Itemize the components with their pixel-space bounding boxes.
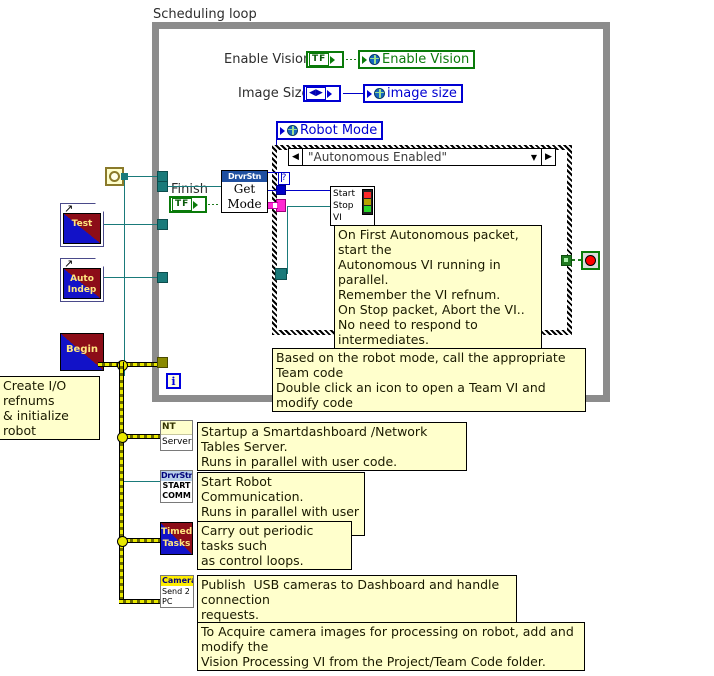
timed-tasks-vi[interactable]: Timed Tasks <box>160 522 193 555</box>
wait-timer-wire-down <box>124 176 125 376</box>
timed-tasks-line2: Tasks <box>163 539 191 549</box>
terminal-nub <box>193 201 198 209</box>
start-stop-mode-wire <box>286 190 330 191</box>
get-mode-out-wire-mid <box>268 190 278 191</box>
terminal-nub <box>327 90 332 98</box>
loop-tunnel-error[interactable] <box>157 357 168 368</box>
vision-comment: To Acquire camera images for processing … <box>197 622 585 671</box>
case-prev-arrow-icon[interactable]: ◀ <box>289 149 303 165</box>
timed-tasks-comment: Carry out periodic tasks such as control… <box>197 521 352 570</box>
image-size-indicator-label: image size <box>387 86 457 101</box>
camera-line1: Camera <box>161 576 193 586</box>
scheduling-loop-label: Scheduling loop <box>153 7 257 22</box>
error-wire-begin-out <box>98 362 166 367</box>
get-mode-header: DrvrStn <box>222 171 267 182</box>
team-vi-test-label: Test <box>63 213 101 244</box>
case-tunnel-error[interactable] <box>275 268 287 280</box>
start-comm-line1: START <box>161 481 192 491</box>
begin-comment: Create I/O refnums & initialize robot <box>0 376 100 440</box>
start-comm-line2: COMM <box>161 491 192 501</box>
terminal-nub <box>330 56 335 64</box>
open-vi-arrow-icon: ↗ <box>64 204 73 213</box>
enable-vision-global-indicator[interactable]: Enable Vision <box>358 50 475 69</box>
get-mode-line1: Get <box>222 182 267 197</box>
team-vi-auto-indep[interactable]: ↗ AutoIndep <box>60 258 104 302</box>
enable-vision-label: Enable Vision <box>224 52 311 67</box>
nt-server-comment: Startup a Smartdashboard /Network Tables… <box>197 422 467 471</box>
traffic-light-icon <box>362 189 373 215</box>
stop-button[interactable] <box>581 251 600 270</box>
wait-timer-circle <box>109 171 120 182</box>
indicator-arrow-icon <box>362 56 367 64</box>
indicator-arrow-icon <box>367 90 372 98</box>
image-size-label: Image Size <box>238 86 310 101</box>
start-stop-text: Start Stop VI <box>332 188 362 224</box>
start-stop-line2: Stop <box>333 200 362 212</box>
get-mode-in-wire <box>162 186 221 187</box>
loop-iteration-terminal[interactable]: i <box>166 373 181 389</box>
enable-vision-terminal[interactable]: TF <box>306 51 344 68</box>
case-selector-bar[interactable]: ◀ "Autonomous Enabled" ▼ ▶ <box>288 148 556 166</box>
tunnel-dot-icon <box>564 258 568 262</box>
camera-send-vi[interactable]: Camera Send 2 PC <box>160 575 194 608</box>
open-vi-arrow-icon: ↗ <box>64 259 73 268</box>
globe-icon <box>287 125 298 136</box>
image-size-value: ◀▶ <box>306 87 326 100</box>
start-comm-header: DrvrStn <box>161 471 192 481</box>
nt-server-line2: Server <box>161 435 192 449</box>
loop-tunnel-getmode[interactable] <box>157 181 168 192</box>
robot-mode-comment: Based on the robot mode, call the approp… <box>272 348 586 412</box>
start-stop-wire-down <box>287 206 288 274</box>
finish-label: Finish <box>171 182 208 197</box>
enable-vision-indicator-label: Enable Vision <box>382 52 469 67</box>
error-wire-main-vertical <box>119 362 124 604</box>
nt-server-line1: NT <box>161 421 192 435</box>
nt-server-vi[interactable]: NT Server <box>160 420 193 451</box>
block-diagram-canvas: Scheduling loop i Enable Vision TF Enabl… <box>0 0 714 676</box>
camera-comment: Publish USB cameras to Dashboard and han… <box>197 575 517 624</box>
case-tunnel-stop[interactable] <box>561 255 572 266</box>
start-stop-line3: VI <box>333 212 362 224</box>
start-stop-in-wire <box>287 206 330 207</box>
autonomous-comment: On First Autonomous packet, start the Au… <box>334 225 542 349</box>
stop-button-icon <box>585 255 596 266</box>
robot-mode-indicator-label: Robot Mode <box>300 123 377 138</box>
team-vi-auto-wire <box>104 277 164 278</box>
start-stop-vi[interactable]: Start Stop VI <box>330 186 375 226</box>
team-vi-auto-label: AutoIndep <box>63 268 101 299</box>
image-size-global-indicator[interactable]: image size <box>363 84 463 103</box>
image-size-terminal[interactable]: ◀▶ <box>303 85 341 102</box>
case-selector-terminal[interactable]: ? <box>278 172 290 185</box>
globe-icon <box>369 54 380 65</box>
robot-mode-global-indicator[interactable]: Robot Mode <box>276 121 383 140</box>
indicator-arrow-icon <box>280 127 285 135</box>
camera-line2: Send 2 <box>161 586 193 597</box>
camera-line3: PC <box>161 597 193 607</box>
start-comm-vi[interactable]: DrvrStn START COMM <box>160 470 193 503</box>
team-vi-test-wire <box>104 224 164 225</box>
error-wire-junction-3 <box>117 536 128 547</box>
loop-tunnel-auto[interactable] <box>157 272 168 283</box>
globe-icon <box>374 88 385 99</box>
finish-wire-h <box>208 204 220 205</box>
loop-tunnel-test[interactable] <box>157 219 168 230</box>
page-fold-icon <box>95 258 104 267</box>
case-selected-label: "Autonomous Enabled" <box>303 150 527 164</box>
finish-terminal[interactable]: TF <box>169 196 207 213</box>
timed-tasks-line1: Timed <box>161 527 192 537</box>
enable-vision-value: TF <box>309 53 329 66</box>
error-wire-junction-2 <box>117 432 128 443</box>
page-fold-icon <box>95 203 104 212</box>
image-size-wire <box>343 93 365 94</box>
get-mode-out-wire-top <box>268 172 282 173</box>
get-mode-refnum-wire <box>268 202 278 209</box>
finish-value: TF <box>172 198 192 211</box>
start-stop-line1: Start <box>333 188 362 200</box>
drvrstn-get-mode-vi[interactable]: DrvrStn Get Mode <box>221 170 268 213</box>
get-mode-line2: Mode <box>222 197 267 212</box>
get-mode-out-wire-down <box>281 172 282 182</box>
case-dropdown-icon[interactable]: ▼ <box>527 149 541 165</box>
case-next-arrow-icon[interactable]: ▶ <box>541 149 555 165</box>
team-vi-test[interactable]: ↗ Test <box>60 203 104 247</box>
